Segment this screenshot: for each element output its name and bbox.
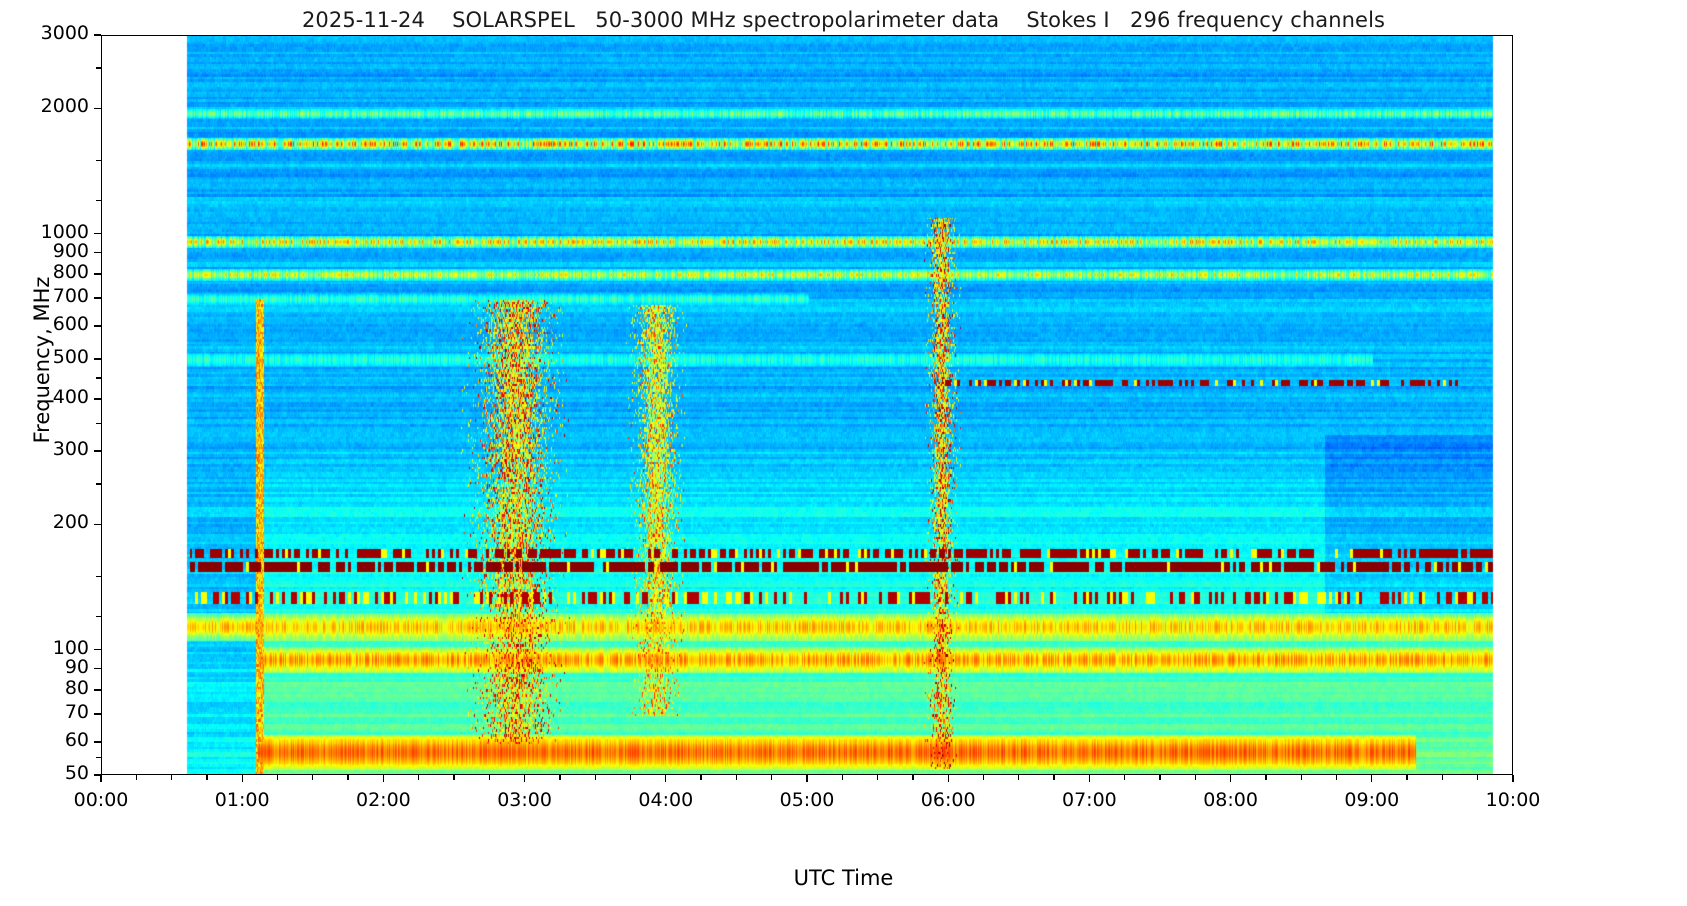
x-minor-tick (1442, 775, 1443, 780)
x-tick-0500 (806, 775, 807, 782)
x-minor-tick (559, 775, 560, 780)
x-minor-tick (1124, 775, 1125, 780)
y-axis-label-holder: Frequency, MHz (14, 0, 54, 810)
y-minor-tick (96, 616, 101, 617)
x-tick-label-0200: 02:00 (323, 789, 443, 811)
y-minor-tick (96, 757, 101, 758)
x-minor-tick (771, 775, 772, 780)
spectrogram-image[interactable] (102, 36, 1513, 775)
x-minor-tick (912, 775, 913, 780)
y-tick-label-900: 900 (53, 240, 89, 262)
y-tick-1000 (94, 233, 101, 234)
x-minor-tick (595, 775, 596, 780)
x-tick-0100 (242, 775, 243, 782)
y-tick-label-800: 800 (53, 261, 89, 283)
y-minor-tick (96, 160, 101, 161)
y-tick-label-400: 400 (53, 386, 89, 408)
x-tick-1000 (1512, 775, 1513, 782)
x-tick-0700 (1089, 775, 1090, 782)
x-tick-label-0900: 09:00 (1312, 789, 1432, 811)
x-axis-label: UTC Time (0, 866, 1687, 890)
x-tick-label-0000: 00:00 (41, 789, 161, 811)
x-minor-tick (700, 775, 701, 780)
x-minor-tick (630, 775, 631, 780)
spectrogram-figure: 2025-11-24 SOLARSPEL 50-3000 MHz spectro… (0, 0, 1687, 906)
x-minor-tick (418, 775, 419, 780)
y-tick-100 (94, 649, 101, 650)
y-tick-800 (94, 273, 101, 274)
x-tick-label-1000: 10:00 (1453, 789, 1573, 811)
y-tick-label-80: 80 (65, 677, 89, 699)
y-minor-tick (96, 67, 101, 68)
y-minor-tick (96, 423, 101, 424)
x-tick-0600 (948, 775, 949, 782)
x-minor-tick (277, 775, 278, 780)
x-tick-0200 (383, 775, 384, 782)
y-tick-2000 (94, 108, 101, 109)
x-tick-0300 (524, 775, 525, 782)
x-tick-label-0400: 04:00 (606, 789, 726, 811)
x-minor-tick (206, 775, 207, 780)
spectrogram-axes[interactable] (101, 35, 1513, 775)
y-minor-tick (96, 377, 101, 378)
x-minor-tick (1336, 775, 1337, 780)
y-tick-70 (94, 713, 101, 714)
figure-title: 2025-11-24 SOLARSPEL 50-3000 MHz spectro… (0, 8, 1687, 32)
y-tick-label-700: 700 (53, 285, 89, 307)
y-tick-label-90: 90 (65, 656, 89, 678)
y-tick-80 (94, 689, 101, 690)
x-minor-tick (736, 775, 737, 780)
x-minor-tick (877, 775, 878, 780)
x-tick-label-0500: 05:00 (747, 789, 867, 811)
x-minor-tick (1477, 775, 1478, 780)
y-tick-label-3000: 3000 (41, 22, 89, 44)
y-tick-200 (94, 524, 101, 525)
x-tick-0800 (1230, 775, 1231, 782)
y-tick-60 (94, 741, 101, 742)
x-minor-tick (1301, 775, 1302, 780)
y-tick-label-300: 300 (53, 438, 89, 460)
x-minor-tick (1406, 775, 1407, 780)
x-minor-tick (453, 775, 454, 780)
x-minor-tick (312, 775, 313, 780)
x-tick-0900 (1371, 775, 1372, 782)
x-tick-label-0300: 03:00 (465, 789, 585, 811)
y-tick-500 (94, 358, 101, 359)
y-minor-tick (96, 200, 101, 201)
x-tick-0400 (665, 775, 666, 782)
y-tick-label-200: 200 (53, 511, 89, 533)
x-minor-tick (1018, 775, 1019, 780)
y-tick-400 (94, 398, 101, 399)
x-minor-tick (842, 775, 843, 780)
x-tick-0000 (100, 775, 101, 782)
x-minor-tick (1195, 775, 1196, 780)
x-minor-tick (983, 775, 984, 780)
x-tick-label-0100: 01:00 (182, 789, 302, 811)
x-minor-tick (136, 775, 137, 780)
y-tick-label-2000: 2000 (41, 95, 89, 117)
x-minor-tick (1159, 775, 1160, 780)
y-tick-600 (94, 325, 101, 326)
y-tick-label-60: 60 (65, 729, 89, 751)
x-minor-tick (1053, 775, 1054, 780)
x-minor-tick (171, 775, 172, 780)
y-tick-label-500: 500 (53, 346, 89, 368)
x-minor-tick (489, 775, 490, 780)
x-minor-tick (347, 775, 348, 780)
y-tick-3000 (94, 34, 101, 35)
x-tick-label-0600: 06:00 (888, 789, 1008, 811)
y-tick-90 (94, 668, 101, 669)
x-tick-label-0800: 08:00 (1171, 789, 1291, 811)
x-minor-tick (1265, 775, 1266, 780)
y-tick-label-70: 70 (65, 701, 89, 723)
y-tick-300 (94, 450, 101, 451)
x-tick-label-0700: 07:00 (1029, 789, 1149, 811)
y-tick-label-50: 50 (65, 762, 89, 784)
y-tick-700 (94, 297, 101, 298)
y-tick-label-600: 600 (53, 313, 89, 335)
y-tick-900 (94, 252, 101, 253)
y-minor-tick (96, 576, 101, 577)
y-minor-tick (96, 483, 101, 484)
